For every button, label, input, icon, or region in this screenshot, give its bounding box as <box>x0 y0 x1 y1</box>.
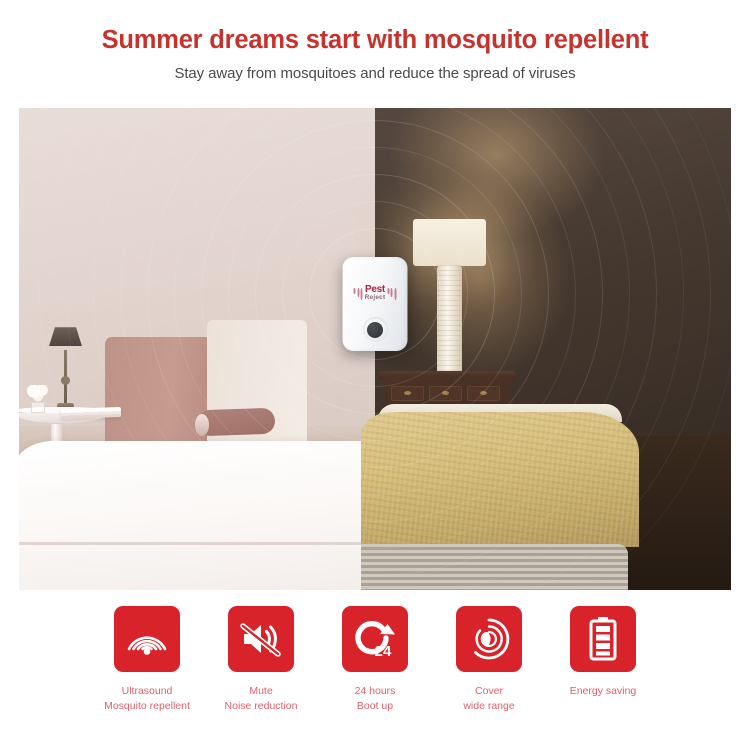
coverage-range-icon <box>456 606 522 672</box>
device-brand-bottom: Reject <box>365 295 386 302</box>
feature-caption: Energy saving <box>555 684 651 699</box>
feature-list: Ultrasound Mosquito repellent Mute Noise… <box>0 606 750 714</box>
feature-item-24hours: 24 24 hours Boot up <box>327 606 423 714</box>
logo-wave-right-icon <box>387 288 396 300</box>
logo-wave-left-icon <box>354 288 363 300</box>
product-marketing-page: Summer dreams start with mosquito repell… <box>0 0 750 750</box>
feature-item-mute: Mute Noise reduction <box>213 606 309 714</box>
device-power-indicator[interactable] <box>363 317 388 342</box>
mute-speaker-icon <box>228 606 294 672</box>
feature-item-energy-saving: Energy saving <box>555 606 651 714</box>
feature-item-ultrasound: Ultrasound Mosquito repellent <box>99 606 195 714</box>
feature-badge: 24 <box>375 643 392 660</box>
24-hours-refresh-icon: 24 <box>342 606 408 672</box>
page-subtitle: Stay away from mosquitoes and reduce the… <box>0 65 750 82</box>
feature-item-coverage: Cover wide range <box>441 606 537 714</box>
page-title: Summer dreams start with mosquito repell… <box>0 26 750 54</box>
hero-photo: Pest Reject <box>19 108 731 590</box>
feature-caption: Ultrasound Mosquito repellent <box>99 684 195 714</box>
ultrasound-wave-icon <box>114 606 180 672</box>
feature-caption: 24 hours Boot up <box>327 684 423 714</box>
feature-caption: Cover wide range <box>441 684 537 714</box>
feature-caption: Mute Noise reduction <box>213 684 309 714</box>
device-logo: Pest Reject <box>343 285 408 302</box>
pest-reject-device: Pest Reject <box>343 257 408 351</box>
header: Summer dreams start with mosquito repell… <box>0 0 750 82</box>
battery-icon <box>570 606 636 672</box>
